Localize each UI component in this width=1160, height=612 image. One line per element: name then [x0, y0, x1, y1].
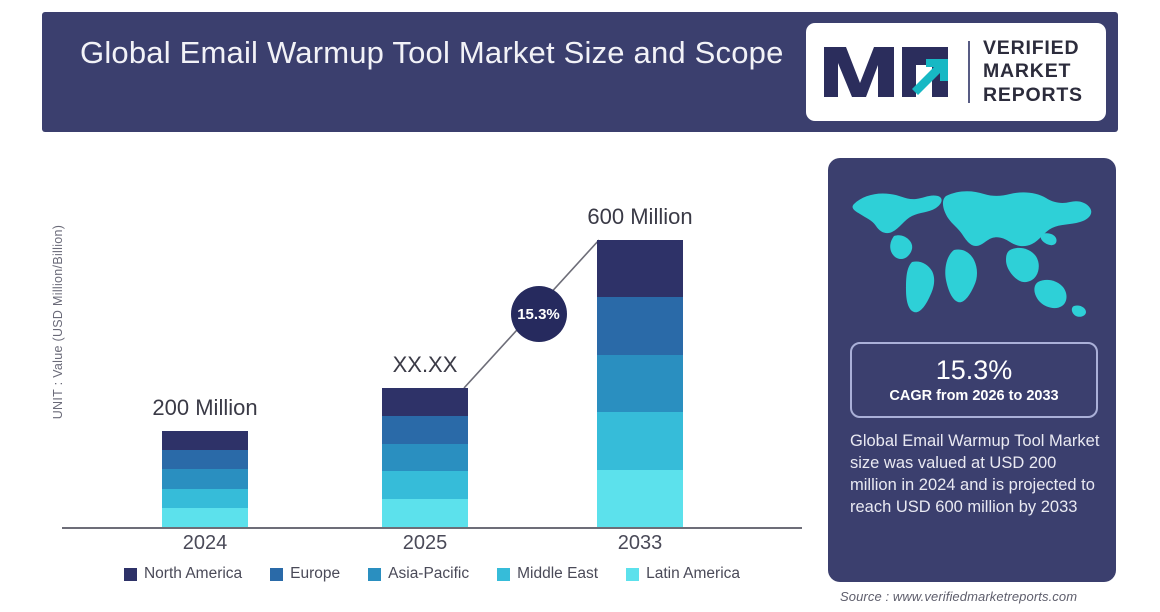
legend-item-latin-america[interactable]: Latin America: [626, 565, 740, 583]
bar-segment[interactable]: [382, 416, 468, 444]
bar-segment[interactable]: [162, 431, 248, 450]
cagr-bubble-value: 15.3%: [517, 306, 560, 323]
legend-item-europe[interactable]: Europe: [270, 565, 340, 583]
x-tick-2025: 2025: [403, 532, 448, 555]
legend-item-asia-pacific[interactable]: Asia-Pacific: [368, 565, 469, 583]
y-axis-label: UNIT : Value (USD Million/Billion): [51, 212, 65, 432]
bar-segment[interactable]: [382, 388, 468, 416]
legend-swatch: [497, 568, 510, 581]
legend-label: Middle East: [517, 565, 598, 583]
legend-swatch: [368, 568, 381, 581]
legend-label: North America: [144, 565, 242, 583]
cagr-bubble: 15.3%: [511, 286, 567, 342]
bar-group-2033[interactable]: 600 Million: [597, 240, 683, 527]
logo-word-market: MARKET: [983, 60, 1083, 83]
bar-total-label: 200 Million: [152, 395, 257, 421]
logo-wordmark: VERIFIED MARKET REPORTS: [983, 37, 1083, 107]
legend-item-middle-east[interactable]: Middle East: [497, 565, 598, 583]
logo-word-verified: VERIFIED: [983, 37, 1083, 60]
bar-segment[interactable]: [597, 412, 683, 469]
chart-legend: North AmericaEuropeAsia-PacificMiddle Ea…: [62, 565, 802, 583]
vmr-logo-icon: [816, 35, 964, 109]
bar-stack: [382, 388, 468, 527]
legend-swatch: [626, 568, 639, 581]
bar-segment[interactable]: [597, 240, 683, 297]
side-panel: 15.3% CAGR from 2026 to 2033 Global Emai…: [828, 158, 1116, 582]
x-tick-2033: 2033: [618, 532, 663, 555]
x-axis-line: [62, 527, 802, 529]
cagr-box: 15.3% CAGR from 2026 to 2033: [850, 342, 1098, 418]
panel-description: Global Email Warmup Tool Market size was…: [850, 430, 1100, 518]
legend-label: Asia-Pacific: [388, 565, 469, 583]
x-tick-2024: 2024: [183, 532, 228, 555]
bar-segment[interactable]: [162, 450, 248, 469]
bar-segment[interactable]: [597, 297, 683, 354]
legend-swatch: [270, 568, 283, 581]
bar-segment[interactable]: [382, 471, 468, 499]
bar-group-2024[interactable]: 200 Million: [162, 431, 248, 527]
bar-segment[interactable]: [597, 470, 683, 527]
cagr-caption: CAGR from 2026 to 2033: [889, 388, 1058, 404]
header-banner: Global Email Warmup Tool Market Size and…: [42, 12, 1118, 132]
bar-segment[interactable]: [382, 444, 468, 472]
bar-segment[interactable]: [162, 469, 248, 488]
bar-group-2025[interactable]: XX.XX: [382, 388, 468, 527]
bar-segment[interactable]: [597, 355, 683, 412]
bar-segment[interactable]: [162, 489, 248, 508]
page-title: Global Email Warmup Tool Market Size and…: [80, 34, 800, 73]
brand-logo-card: VERIFIED MARKET REPORTS: [806, 23, 1106, 121]
chart-area: UNIT : Value (USD Million/Billion) 200 M…: [0, 140, 812, 612]
bar-segment[interactable]: [162, 508, 248, 527]
world-map-icon: [842, 174, 1102, 322]
legend-swatch: [124, 568, 137, 581]
bar-total-label: XX.XX: [393, 352, 458, 378]
legend-label: Latin America: [646, 565, 740, 583]
bar-segment[interactable]: [382, 499, 468, 527]
legend-label: Europe: [290, 565, 340, 583]
bar-stack: [597, 240, 683, 527]
logo-word-reports: REPORTS: [983, 84, 1083, 107]
cagr-value: 15.3%: [936, 356, 1013, 384]
legend-item-north-america[interactable]: North America: [124, 565, 242, 583]
bar-total-label: 600 Million: [587, 204, 692, 230]
bar-stack: [162, 431, 248, 527]
logo-divider: [968, 41, 970, 103]
source-attribution: Source : www.verifiedmarketreports.com: [840, 589, 1130, 604]
